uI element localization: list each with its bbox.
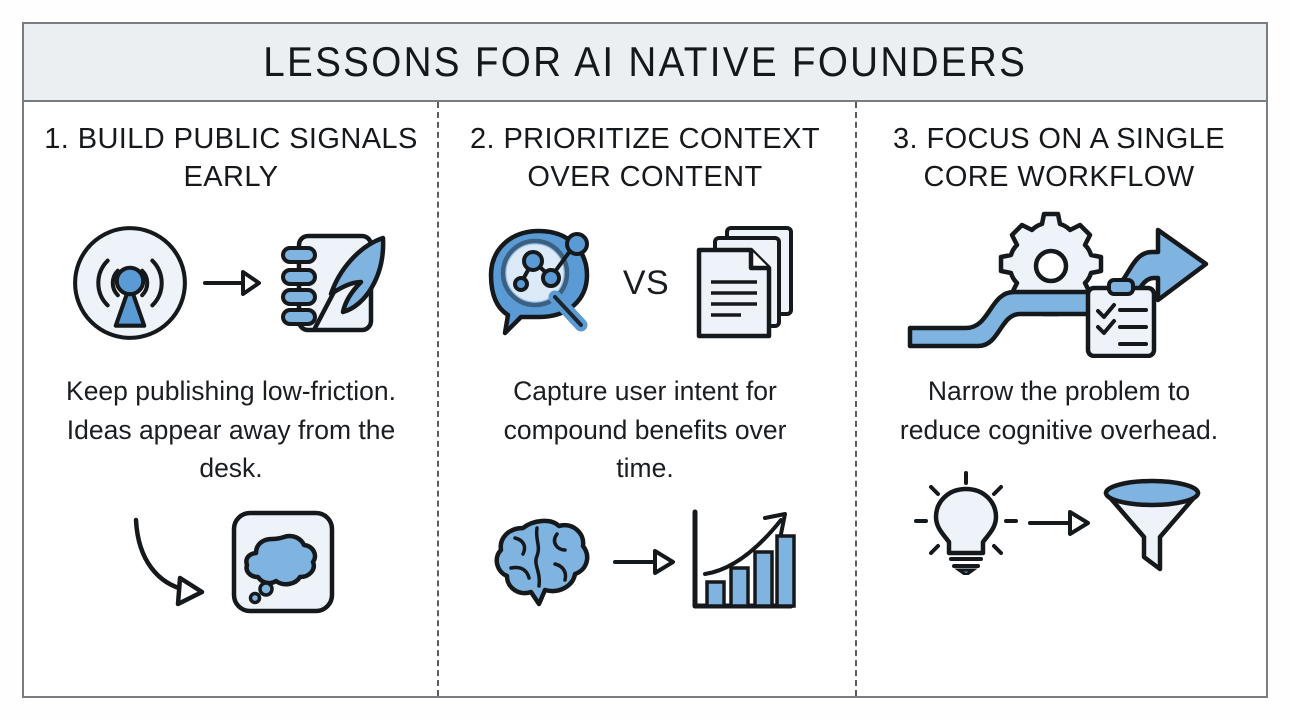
document-stack-icon — [685, 222, 809, 344]
lightbulb-icon — [914, 471, 1018, 575]
column-single-core-workflow: 3. FOCUS ON A SINGLE CORE WORKFLOW — [852, 102, 1266, 696]
column-2-body: Capture user intent for compound benefit… — [480, 372, 810, 488]
column-1-bottom-icons — [124, 502, 338, 622]
brain-icon — [493, 512, 603, 612]
funnel-icon — [1100, 471, 1204, 575]
arrow-right-icon — [1026, 506, 1092, 540]
clipboard-checklist-icon — [1088, 280, 1154, 356]
vs-label: VS — [617, 264, 675, 303]
header-band: LESSONS FOR AI NATIVE FOUNDERS — [24, 24, 1266, 102]
column-3-top-icons — [906, 208, 1212, 358]
infographic-frame: LESSONS FOR AI NATIVE FOUNDERS 1. BUILD … — [22, 22, 1268, 698]
column-1-body: Keep publishing low-friction. Ideas appe… — [66, 372, 396, 488]
thought-bubble-card-icon — [228, 507, 338, 617]
column-2-heading: 2. PRIORITIZE CONTEXT OVER CONTENT — [452, 120, 838, 204]
column-2-top-icons: VS — [481, 208, 809, 358]
growth-bar-chart-icon — [685, 508, 797, 616]
infographic-canvas: LESSONS FOR AI NATIVE FOUNDERS 1. BUILD … — [0, 0, 1290, 720]
arrow-right-icon — [611, 545, 677, 579]
column-1-heading: 1. BUILD PUBLIC SIGNALS EARLY — [38, 120, 424, 204]
insight-search-bubble-icon — [481, 221, 607, 345]
curved-arrow-icon — [124, 512, 220, 612]
column-3-bottom-icons — [914, 463, 1204, 583]
column-build-public-signals: 1. BUILD PUBLIC SIGNALS EARLY — [24, 102, 438, 696]
arrow-right-icon — [201, 266, 263, 300]
columns-container: 1. BUILD PUBLIC SIGNALS EARLY — [24, 102, 1266, 696]
column-3-body: Narrow the problem to reduce cognitive o… — [894, 372, 1224, 449]
column-3-heading: 3. FOCUS ON A SINGLE CORE WORKFLOW — [866, 120, 1252, 204]
column-1-top-icons — [69, 208, 393, 358]
page-title: LESSONS FOR AI NATIVE FOUNDERS — [263, 38, 1027, 86]
column-2-bottom-icons — [493, 502, 797, 622]
broadcast-signal-icon — [69, 222, 191, 344]
notebook-quill-icon — [273, 224, 393, 342]
workflow-step-arrow-icon — [906, 208, 1212, 358]
column-prioritize-context: 2. PRIORITIZE CONTEXT OVER CONTENT — [438, 102, 852, 696]
